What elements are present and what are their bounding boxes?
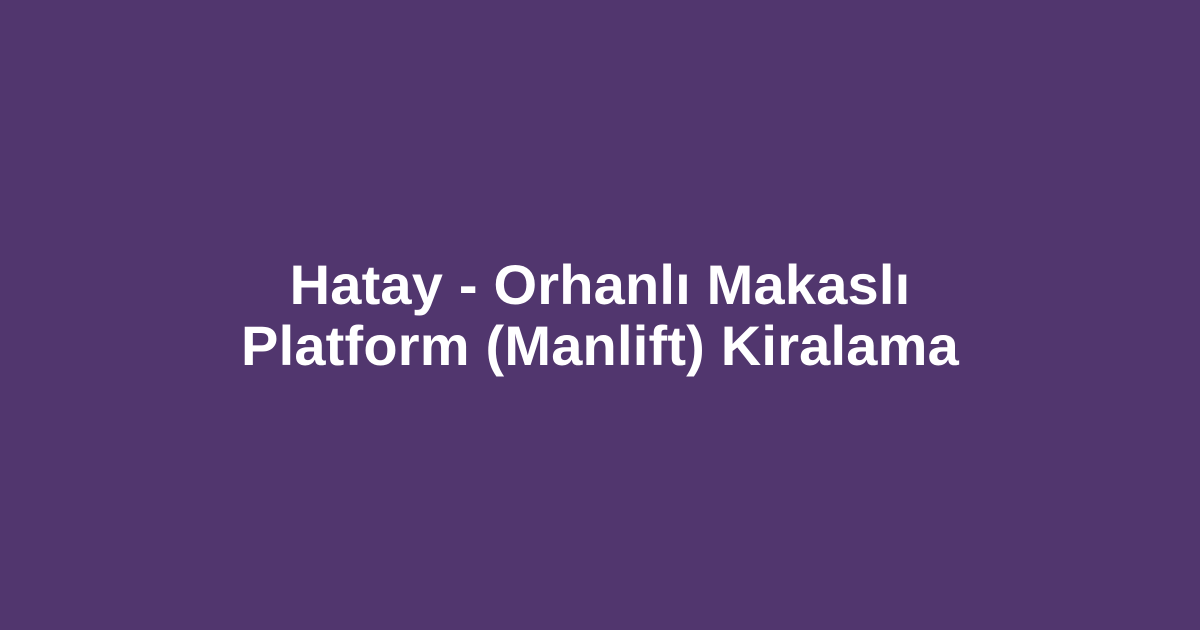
page-title: Hatay - Orhanlı Makaslı Platform (Manlif…	[170, 254, 1030, 376]
share-card: Hatay - Orhanlı Makaslı Platform (Manlif…	[0, 0, 1200, 630]
card-content: Hatay - Orhanlı Makaslı Platform (Manlif…	[170, 254, 1030, 376]
